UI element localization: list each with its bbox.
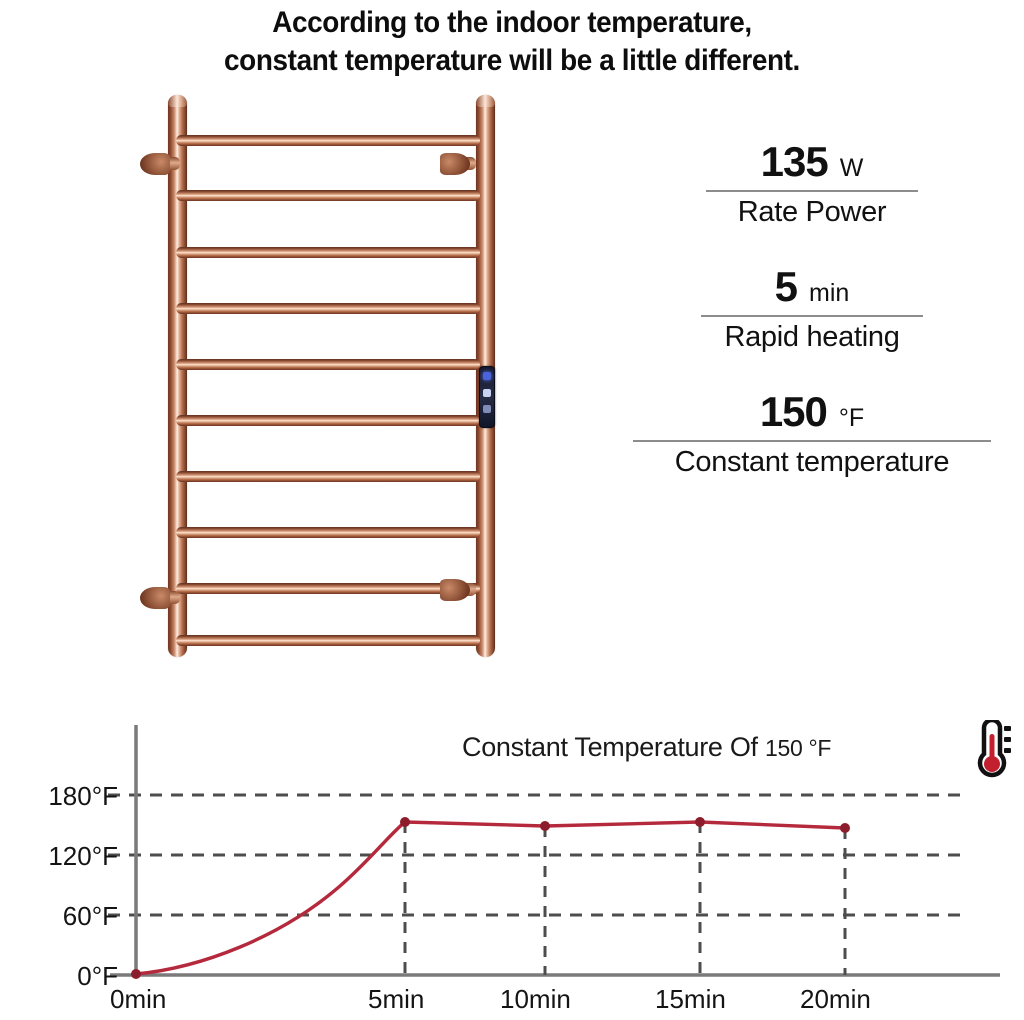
spec-value: 5 — [775, 265, 797, 309]
spec-divider — [706, 190, 918, 192]
x-axis-labels: 0min 5min 10min 15min 20min — [0, 700, 1024, 1020]
product-rung — [176, 359, 480, 370]
spec-divider — [633, 440, 991, 442]
page-title-line-1: According to the indoor temperature, — [36, 4, 988, 42]
spec-constant-temperature: 150 °F Constant temperature — [600, 390, 1024, 479]
spec-label: Rate Power — [600, 196, 1024, 229]
product-image-towel-warmer — [140, 95, 530, 685]
control-panel[interactable] — [479, 366, 495, 428]
spec-value: 135 — [761, 140, 828, 184]
wall-mount-top-left — [140, 153, 170, 175]
product-rung — [176, 247, 480, 258]
x-tick-15min: 15min — [655, 984, 726, 1015]
spec-unit: min — [809, 280, 849, 306]
panel-indicator-mode — [483, 405, 491, 413]
spec-divider — [701, 315, 923, 317]
panel-indicator-display — [483, 372, 491, 380]
product-rung — [176, 635, 480, 646]
product-rung — [176, 471, 480, 482]
product-left-post — [168, 95, 187, 657]
spec-rapid-heating: 5 min Rapid heating — [600, 265, 1024, 354]
product-rung — [176, 415, 480, 426]
product-rung — [176, 303, 480, 314]
spec-value: 150 — [760, 390, 827, 434]
spec-unit: °F — [839, 405, 864, 431]
wall-mount-bottom-left — [140, 587, 170, 609]
product-rung — [176, 135, 480, 146]
spec-list: 135 W Rate Power 5 min Rapid heating 150… — [600, 140, 1024, 515]
left-post-cap — [168, 95, 187, 107]
spec-label: Rapid heating — [600, 321, 1024, 354]
x-tick-20min: 20min — [800, 984, 871, 1015]
x-tick-0min: 0min — [110, 984, 166, 1015]
temperature-chart: Constant Temperature Of 150 °F 180°F — [0, 700, 1024, 1020]
page-title-line-2: constant temperature will be a little di… — [36, 42, 988, 80]
product-rung — [176, 190, 480, 201]
spec-label: Constant temperature — [600, 446, 1024, 479]
page-title: According to the indoor temperature, con… — [36, 4, 988, 80]
x-tick-5min: 5min — [368, 984, 424, 1015]
product-rung — [176, 527, 480, 538]
spec-unit: W — [840, 155, 864, 181]
wall-mount-top-right — [440, 153, 470, 175]
right-post-cap — [476, 95, 495, 107]
product-rung — [176, 583, 480, 594]
panel-indicator-power — [483, 389, 491, 397]
spec-rate-power: 135 W Rate Power — [600, 140, 1024, 229]
wall-mount-bottom-right — [440, 579, 470, 601]
x-tick-10min: 10min — [500, 984, 571, 1015]
